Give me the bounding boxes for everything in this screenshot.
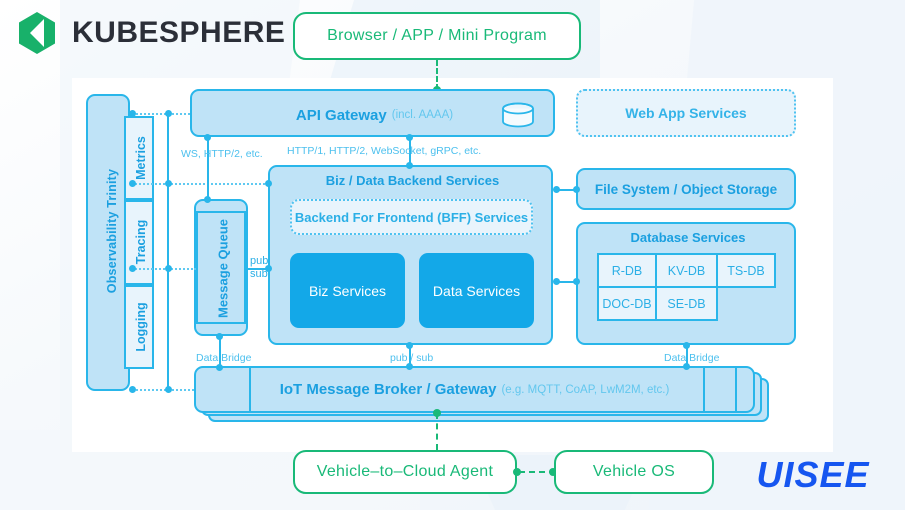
api-gateway-title: API Gateway xyxy=(296,107,387,124)
iot-broker-subtitle: (e.g. MQTT, CoAP, LwM2M, etc.) xyxy=(501,384,669,396)
vehicle-to-cloud-agent-box[interactable]: Vehicle–to–Cloud Agent xyxy=(293,450,517,494)
iot-message-broker-block[interactable]: IoT Message Broker / Gateway (e.g. MQTT,… xyxy=(194,366,755,413)
db-cell-label: DOC-DB xyxy=(602,297,651,311)
observability-item-label: Tracing xyxy=(134,200,148,284)
caption-data-bridge-right: Data Bridge xyxy=(664,352,719,364)
brand-logo: KUBESPHERE xyxy=(14,10,285,56)
client-entry-box[interactable]: Browser / APP / Mini Program xyxy=(293,12,581,60)
vehicle-os-box[interactable]: Vehicle OS xyxy=(554,450,714,494)
observability-item-logging[interactable]: Logging xyxy=(124,285,154,369)
connector-iot-to-agent xyxy=(436,413,438,450)
database-services-title: Database Services xyxy=(578,230,798,245)
observability-item-tracing[interactable]: Tracing xyxy=(124,200,154,284)
db-cell-kv-db[interactable]: KV-DB xyxy=(655,253,718,288)
connector-dot xyxy=(204,134,211,141)
web-app-services-label: Web App Services xyxy=(625,105,746,121)
db-cell-se-db[interactable]: SE-DB xyxy=(655,286,718,321)
db-cell-label: SE-DB xyxy=(667,297,705,311)
connector-dot xyxy=(129,265,136,272)
observability-item-label: Metrics xyxy=(134,116,148,200)
db-cell-label: R-DB xyxy=(612,264,643,278)
caption-ws-http2: WS, HTTP/2, etc. xyxy=(181,148,263,160)
caption-pub-sub-center: pub / sub xyxy=(390,352,433,364)
caption-sub: sub xyxy=(250,269,268,280)
connector-dot xyxy=(683,342,690,349)
connector-dot xyxy=(406,363,413,370)
connector-obs-mq xyxy=(132,268,196,270)
connector-dot xyxy=(513,468,521,476)
bff-services-label: Backend For Frontend (BFF) Services xyxy=(295,210,528,225)
biz-services-block[interactable]: Biz Services xyxy=(290,253,405,328)
connector-dot xyxy=(129,180,136,187)
database-cylinder-icon xyxy=(499,102,537,128)
db-cell-r-db[interactable]: R-DB xyxy=(597,253,657,288)
iot-divider-right xyxy=(703,366,705,413)
observability-bus-line xyxy=(167,112,169,392)
connector-dot xyxy=(216,364,223,371)
vehicle-os-label: Vehicle OS xyxy=(593,463,675,481)
file-system-block[interactable]: File System / Object Storage xyxy=(576,168,796,210)
observability-item-label: Logging xyxy=(134,285,148,369)
connector-dot xyxy=(165,265,172,272)
api-gateway-block[interactable]: API Gateway (incl. AAAA) xyxy=(190,89,555,137)
connector-dot xyxy=(406,342,413,349)
connector-dot xyxy=(129,110,136,117)
connector-dot xyxy=(553,278,560,285)
connector-obs-apigw xyxy=(132,113,190,115)
observability-item-metrics[interactable]: Metrics xyxy=(124,116,154,200)
api-gateway-subtitle: (incl. AAAA) xyxy=(392,109,453,121)
connector-dot xyxy=(553,186,560,193)
observability-trinity-label: Observability Trinity xyxy=(105,101,119,361)
connector-dot xyxy=(204,196,211,203)
connector-dot xyxy=(216,333,223,340)
connector-dot xyxy=(165,110,172,117)
connector-obs-backend xyxy=(132,183,269,185)
connector-dot xyxy=(165,180,172,187)
caption-http-protocols: HTTP/1, HTTP/2, WebSocket, gRPC, etc. xyxy=(287,145,481,157)
iot-divider-right-2 xyxy=(735,366,737,413)
observability-items: Metrics Tracing Logging xyxy=(124,116,154,369)
brand-name: KUBESPHERE xyxy=(72,16,285,50)
connector-dot xyxy=(683,363,690,370)
connector-dot xyxy=(265,180,272,187)
data-services-label: Data Services xyxy=(433,283,520,299)
db-cell-label: KV-DB xyxy=(668,264,706,278)
connector-dot xyxy=(406,134,413,141)
connector-obs-iot xyxy=(132,389,194,391)
message-queue-inner: Message Queue xyxy=(196,211,246,324)
backend-services-title: Biz / Data Backend Services xyxy=(270,173,555,188)
uisee-logo: UISEE xyxy=(737,456,889,494)
iot-divider-left xyxy=(249,366,251,413)
caption-pub: pub xyxy=(250,256,268,267)
connector-dot xyxy=(573,278,580,285)
connector-dot xyxy=(406,162,413,169)
bff-services-block[interactable]: Backend For Frontend (BFF) Services xyxy=(290,199,533,235)
web-app-services-block[interactable]: Web App Services xyxy=(576,89,796,137)
db-cell-doc-db[interactable]: DOC-DB xyxy=(597,286,657,321)
message-queue-label: Message Queue xyxy=(216,213,231,325)
vehicle-to-cloud-agent-label: Vehicle–to–Cloud Agent xyxy=(317,463,494,481)
db-cell-ts-db[interactable]: TS-DB xyxy=(716,253,776,288)
db-cell-label: TS-DB xyxy=(727,264,765,278)
kubesphere-hexagon-icon xyxy=(14,10,60,56)
connector-dot xyxy=(433,409,441,417)
data-services-block[interactable]: Data Services xyxy=(419,253,534,328)
file-system-label: File System / Object Storage xyxy=(595,182,777,197)
diagram-canvas: KUBESPHERE Browser / APP / Mini Program … xyxy=(0,0,905,510)
connector-dot xyxy=(165,386,172,393)
caption-data-bridge-left: Data Bridge xyxy=(196,352,251,364)
connector-dot xyxy=(129,386,136,393)
client-entry-label: Browser / APP / Mini Program xyxy=(327,27,547,45)
connector-apigw-left-down xyxy=(207,137,209,199)
iot-broker-title: IoT Message Broker / Gateway xyxy=(280,381,497,398)
biz-services-label: Biz Services xyxy=(309,283,386,299)
connector-dot xyxy=(573,186,580,193)
